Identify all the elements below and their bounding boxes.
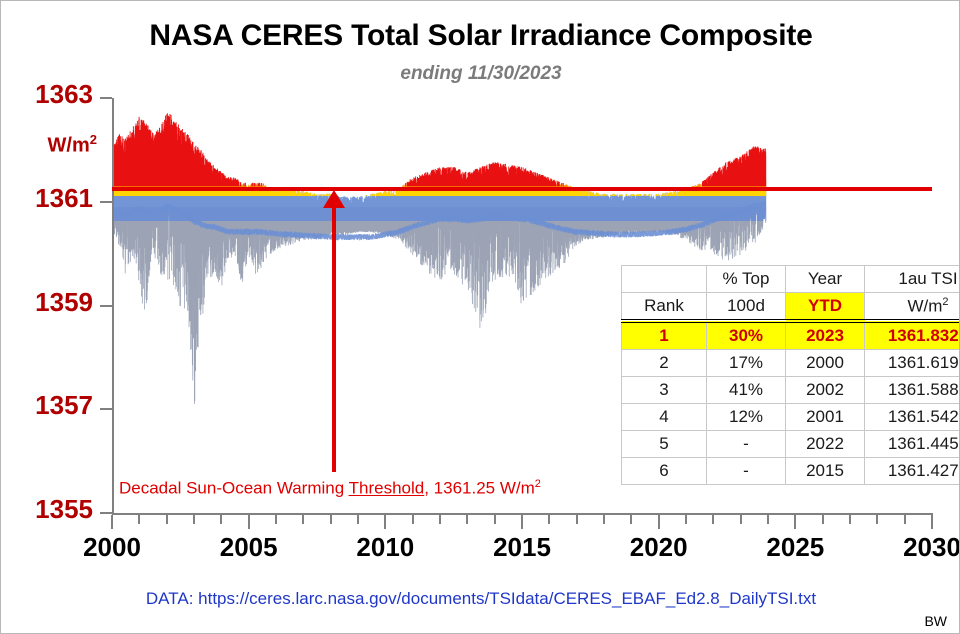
y-axis-unit-exponent: 2: [90, 132, 97, 147]
x-axis-minor-tick: [220, 515, 222, 524]
table-header-tsi-top: 1au TSI: [865, 266, 960, 293]
x-axis-minor-tick: [548, 515, 550, 524]
table-header-tsi-exponent: 2: [942, 296, 948, 308]
x-axis-tick-label: 2015: [467, 532, 577, 563]
table-header-year-top: Year: [786, 266, 865, 293]
table-header-rank-top: [622, 266, 707, 293]
tsi-series-band: [114, 113, 766, 186]
threshold-annotation-suffix: , 1361.25 W/m: [424, 479, 535, 498]
table-header-tsi-unit: W/m: [907, 296, 942, 315]
x-axis-minor-tick: [166, 515, 168, 524]
x-axis-minor-tick: [740, 515, 742, 524]
x-axis-minor-tick: [904, 515, 906, 524]
y-axis-tick-label: 1363: [1, 79, 93, 110]
y-axis-tick: [100, 201, 112, 203]
table-cell-pct-top-100d: 17%: [707, 350, 786, 377]
x-axis-minor-tick: [822, 515, 824, 524]
x-axis-minor-tick: [193, 515, 195, 524]
x-axis-minor-tick: [330, 515, 332, 524]
x-axis-minor-tick: [603, 515, 605, 524]
y-axis-unit-label: W/m2: [1, 132, 97, 158]
x-axis-minor-tick: [138, 515, 140, 524]
y-axis-tick-label: 1357: [1, 390, 93, 421]
table-header-row-top: % TopYear1au TSI: [622, 266, 960, 293]
x-axis-minor-tick: [849, 515, 851, 524]
x-axis-tick-label: 2025: [740, 532, 850, 563]
table-row: 6-20151361.4272: [622, 458, 960, 485]
x-axis-minor-tick: [275, 515, 277, 524]
x-axis-tick-label: 2020: [604, 532, 714, 563]
table-header-rank-bottom: Rank: [622, 293, 707, 322]
chart-page: NASA CERES Total Solar Irradiance Compos…: [0, 0, 960, 634]
table-cell-rank: 3: [622, 377, 707, 404]
table-cell-pct-top-100d: 12%: [707, 404, 786, 431]
x-axis-major-tick: [111, 515, 113, 529]
table-cell-pct-top-100d: -: [707, 431, 786, 458]
table-cell-rank: 6: [622, 458, 707, 485]
table-header-pct-top-100d-bottom: 100d: [707, 293, 786, 322]
y-axis-tick: [100, 305, 112, 307]
table-cell-year: 2002: [786, 377, 865, 404]
y-axis-tick: [100, 97, 112, 99]
y-axis-tick-label: 1361: [1, 183, 93, 214]
x-axis-major-tick: [658, 515, 660, 529]
threshold-annotation: Decadal Sun-Ocean Warming Threshold, 136…: [119, 478, 541, 499]
table-header-year-bottom: YTD: [786, 293, 865, 322]
author-watermark: BW: [924, 613, 947, 629]
table-header-pct-top-100d-top: % Top: [707, 266, 786, 293]
x-axis-minor-tick: [439, 515, 441, 524]
table-cell-pct-top-100d: 41%: [707, 377, 786, 404]
rank-table: % TopYear1au TSIRank100dYTDW/m2130%20231…: [621, 265, 960, 485]
x-axis-minor-tick: [685, 515, 687, 524]
table-cell-tsi: 1361.5427: [865, 404, 960, 431]
x-axis-minor-tick: [302, 515, 304, 524]
threshold-annotation-keyword: Threshold: [349, 479, 425, 498]
table-cell-pct-top-100d: 30%: [707, 321, 786, 350]
data-source-link[interactable]: DATA: https://ceres.larc.nasa.gov/docume…: [1, 589, 960, 609]
x-axis-minor-tick: [876, 515, 878, 524]
table-row: 5-20221361.4456: [622, 431, 960, 458]
threshold-annotation-prefix: Decadal Sun-Ocean Warming: [119, 479, 349, 498]
table-cell-tsi: 1361.5887: [865, 377, 960, 404]
x-axis-major-tick: [521, 515, 523, 529]
table-cell-tsi: 1361.4456: [865, 431, 960, 458]
table-cell-tsi: 1361.4272: [865, 458, 960, 485]
y-axis-tick: [100, 512, 112, 514]
table-cell-rank: 2: [622, 350, 707, 377]
table-row: 130%20231361.8322: [622, 321, 960, 350]
threshold-arrow-shaft: [332, 202, 336, 472]
x-axis-major-tick: [794, 515, 796, 529]
threshold-line: [112, 187, 932, 191]
table-cell-year: 2001: [786, 404, 865, 431]
chart-subtitle: ending 11/30/2023: [1, 63, 960, 85]
table-header-row-bottom: Rank100dYTDW/m2: [622, 293, 960, 322]
x-axis-minor-tick: [767, 515, 769, 524]
table-row: 217%20001361.6190: [622, 350, 960, 377]
table-header-tsi-bottom: W/m2: [865, 293, 960, 322]
table-cell-year: 2022: [786, 431, 865, 458]
table-cell-tsi: 1361.6190: [865, 350, 960, 377]
threshold-arrow: [329, 190, 339, 472]
table-row: 412%20011361.5427: [622, 404, 960, 431]
table-cell-rank: 5: [622, 431, 707, 458]
y-axis-tick-label: 1355: [1, 494, 93, 525]
y-axis-tick: [100, 408, 112, 410]
x-axis-major-tick: [931, 515, 933, 529]
table-cell-pct-top-100d: -: [707, 458, 786, 485]
table-cell-year: 2015: [786, 458, 865, 485]
x-axis-tick-label: 2010: [330, 532, 440, 563]
y-axis-tick-label: 1359: [1, 287, 93, 318]
table-cell-year: 2023: [786, 321, 865, 350]
x-axis-minor-tick: [494, 515, 496, 524]
table-row: 341%20021361.5887: [622, 377, 960, 404]
x-axis-tick-label: 2000: [57, 532, 167, 563]
x-axis-minor-tick: [576, 515, 578, 524]
x-axis-minor-tick: [412, 515, 414, 524]
x-axis-major-tick: [248, 515, 250, 529]
threshold-annotation-exponent: 2: [535, 478, 541, 490]
page-title: NASA CERES Total Solar Irradiance Compos…: [1, 19, 960, 53]
x-axis-tick-label: 2030: [877, 532, 960, 563]
y-axis-unit-text: W/m: [48, 135, 90, 157]
x-axis-minor-tick: [712, 515, 714, 524]
x-axis-minor-tick: [357, 515, 359, 524]
table-cell-rank: 1: [622, 321, 707, 350]
table-cell-tsi: 1361.8322: [865, 321, 960, 350]
x-axis-minor-tick: [630, 515, 632, 524]
table-cell-year: 2000: [786, 350, 865, 377]
x-axis-minor-tick: [466, 515, 468, 524]
x-axis-tick-label: 2005: [194, 532, 304, 563]
table-cell-rank: 4: [622, 404, 707, 431]
x-axis-major-tick: [384, 515, 386, 529]
